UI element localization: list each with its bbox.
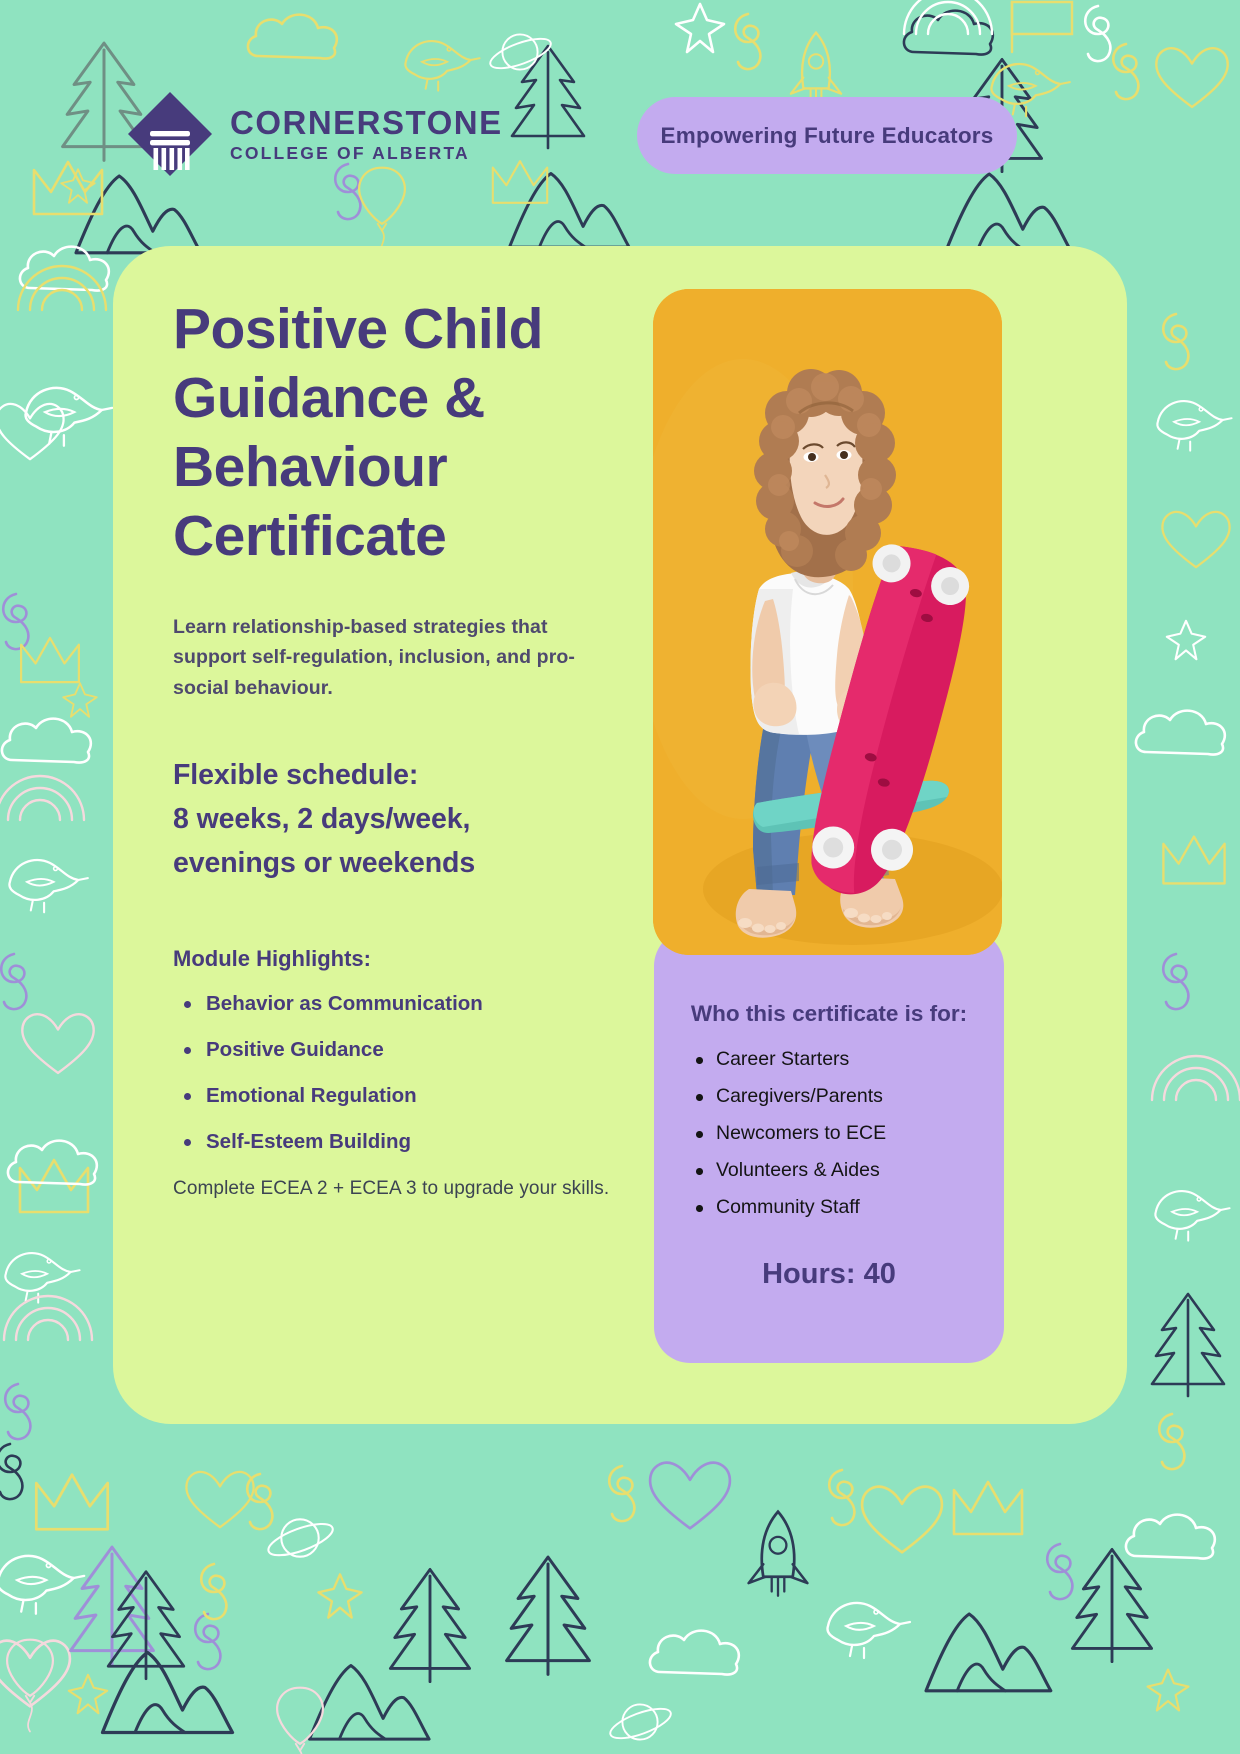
list-item: Career Starters: [686, 1048, 1006, 1071]
logo-subname: COLLEGE OF ALBERTA: [230, 145, 503, 163]
list-item: Emotional Regulation: [173, 1084, 623, 1108]
diamond-pillar-logo-icon: [128, 92, 212, 176]
tagline-badge: Empowering Future Educators: [637, 97, 1017, 174]
modules-list: Behavior as Communication Positive Guida…: [173, 992, 623, 1154]
list-item: Self-Esteem Building: [173, 1130, 623, 1154]
list-item: Community Staff: [686, 1196, 1006, 1219]
audience-heading: Who this certificate is for:: [654, 1001, 1004, 1027]
list-item: Caregivers/Parents: [686, 1085, 1006, 1108]
hours-text: Hours: 40: [654, 1258, 1004, 1291]
list-item: Volunteers & Aides: [686, 1159, 1006, 1182]
left-column: Positive Child Guidance & Behaviour Cert…: [173, 295, 623, 1200]
subtitle-text: Learn relationship-based strategies that…: [173, 612, 593, 703]
modules-heading: Module Highlights:: [173, 946, 623, 972]
audience-list: Career Starters Caregivers/Parents Newco…: [686, 1048, 1006, 1233]
footnote-text: Complete ECEA 2 + ECEA 3 to upgrade your…: [173, 1178, 623, 1200]
logo-wordmark: CORNERSTONE COLLEGE OF ALBERTA: [230, 106, 503, 163]
list-item: Newcomers to ECE: [686, 1122, 1006, 1145]
list-item: Positive Guidance: [173, 1038, 623, 1062]
list-item: Behavior as Communication: [173, 992, 623, 1016]
page-title: Positive Child Guidance & Behaviour Cert…: [173, 295, 623, 571]
brand-logo[interactable]: CORNERSTONE COLLEGE OF ALBERTA: [128, 92, 503, 176]
tagline-text: Empowering Future Educators: [661, 123, 994, 149]
logo-name: CORNERSTONE: [230, 106, 503, 139]
schedule-text: Flexible schedule: 8 weeks, 2 days/week,…: [173, 753, 623, 886]
girl-with-skateboard-photo: [653, 289, 1002, 955]
poster-root: CORNERSTONE COLLEGE OF ALBERTA Empowerin…: [0, 0, 1240, 1754]
